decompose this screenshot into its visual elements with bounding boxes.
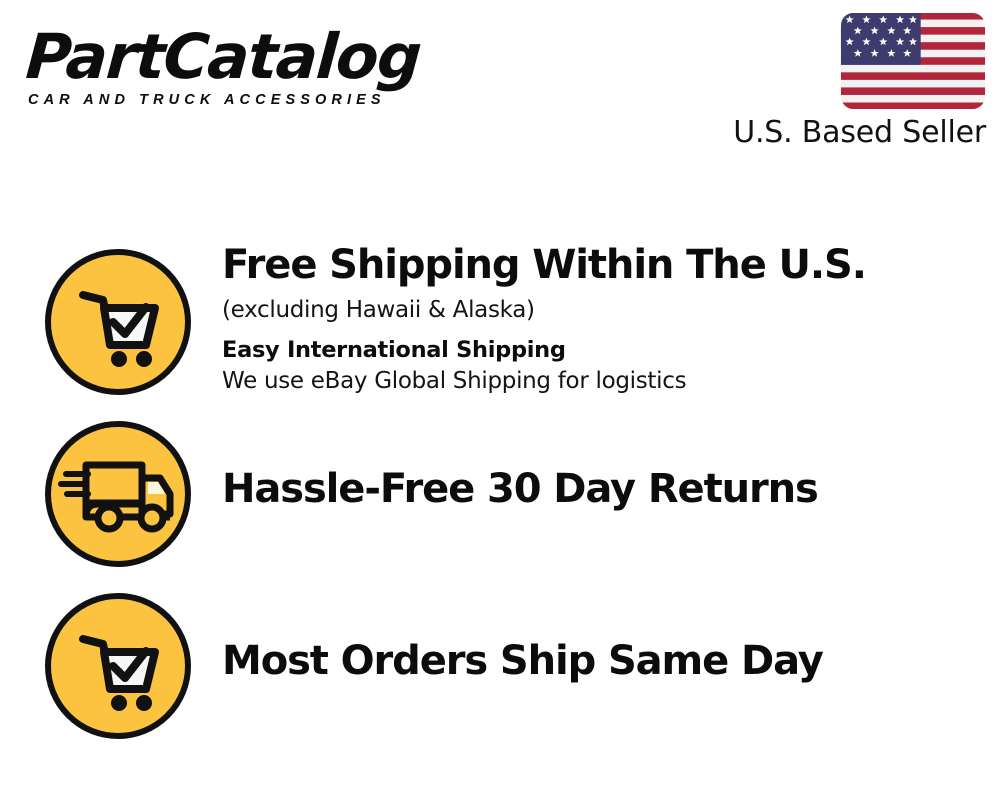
brand-logo[interactable]: PartCatalog CAR AND TRUCK ACCESSORIES	[24, 26, 494, 108]
delivery-truck-icon	[42, 418, 194, 570]
shopping-cart-check-icon	[42, 590, 194, 742]
feature-row: Hassle-Free 30 Day Returns	[0, 418, 1000, 574]
shopping-cart-check-icon	[42, 246, 194, 398]
feature-subtext: We use eBay Global Shipping for logistic…	[222, 366, 982, 397]
feature-headline: Free Shipping Within The U.S.	[222, 242, 982, 288]
us-flag-icon	[840, 12, 986, 110]
brand-wordmark: PartCatalog	[24, 26, 498, 88]
feature-headline: Hassle-Free 30 Day Returns	[222, 466, 982, 512]
feature-subtext-bold: Easy International Shipping	[222, 335, 982, 366]
seller-label: U.S. Based Seller	[696, 115, 986, 151]
feature-text: Hassle-Free 30 Day Returns	[222, 418, 982, 512]
brand-tagline: CAR AND TRUCK ACCESSORIES	[28, 92, 494, 108]
feature-subtext: (excluding Hawaii & Alaska)	[222, 295, 982, 326]
page-header: PartCatalog CAR AND TRUCK ACCESSORIES	[0, 0, 1000, 170]
feature-row: Free Shipping Within The U.S. (excluding…	[0, 246, 1000, 406]
feature-text: Most Orders Ship Same Day	[222, 590, 982, 684]
feature-headline: Most Orders Ship Same Day	[222, 638, 982, 684]
us-based-seller-badge: U.S. Based Seller	[696, 12, 986, 151]
feature-row: Most Orders Ship Same Day	[0, 590, 1000, 746]
feature-text: Free Shipping Within The U.S. (excluding…	[222, 246, 982, 397]
